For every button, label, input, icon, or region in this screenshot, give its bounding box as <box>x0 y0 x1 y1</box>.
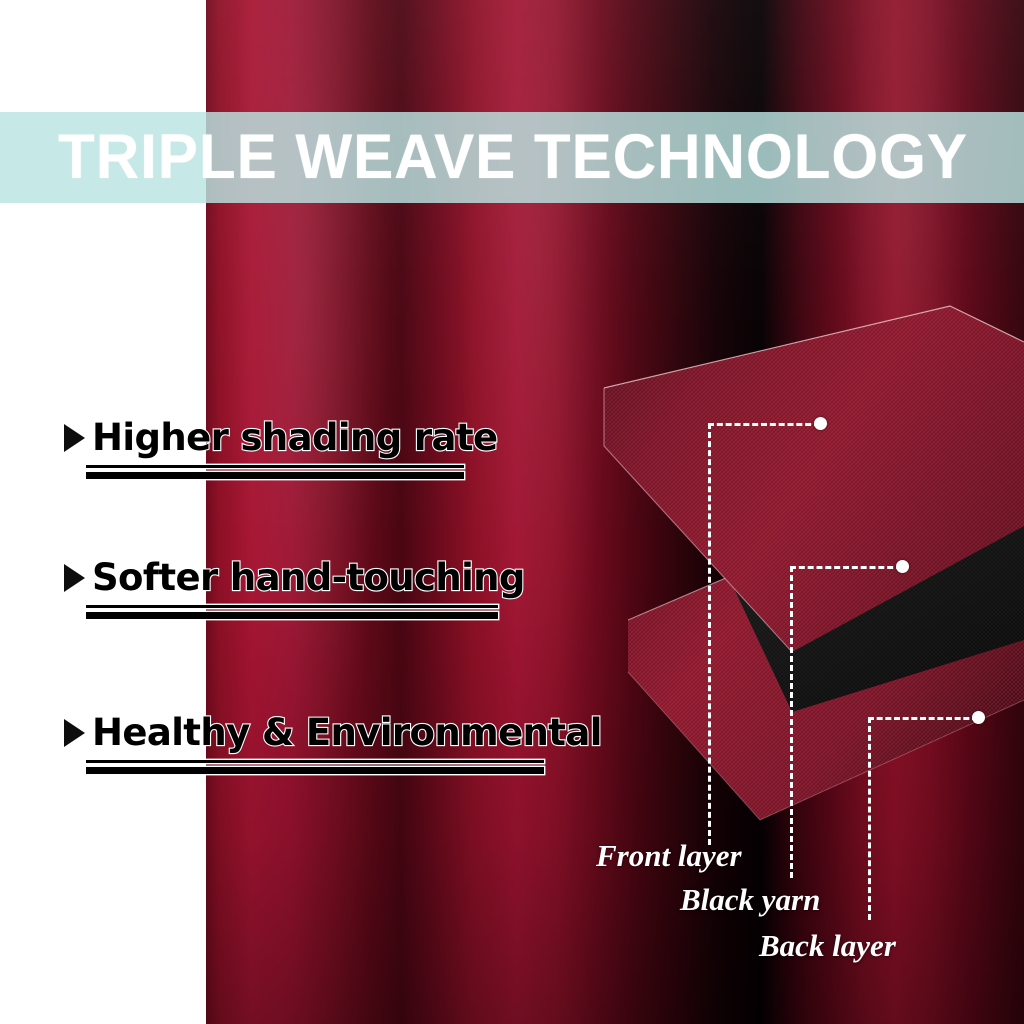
feature-item-softer-hand-touching: Softer hand-touching <box>64 559 525 619</box>
feature-row: Softer hand-touching <box>64 559 525 596</box>
triangle-right-icon <box>64 424 85 452</box>
callout-dot-back-layer <box>972 711 985 724</box>
feature-underline <box>86 465 464 479</box>
feature-label: Higher shading rate <box>92 419 498 456</box>
underline-thick-rule <box>86 767 544 774</box>
callout-dot-black-yarn <box>896 560 909 573</box>
feature-label: Healthy & Environmental <box>92 714 602 751</box>
feature-item-healthy-environmental: Healthy & Environmental <box>64 714 602 774</box>
callout-leader-vertical-back-layer <box>868 717 871 920</box>
feature-row: Healthy & Environmental <box>64 714 602 751</box>
callout-leader-horizontal-back-layer <box>868 717 978 720</box>
banner-title: TRIPLE WEAVE TECHNOLOGY <box>58 112 975 203</box>
callout-leader-vertical-black-yarn <box>790 566 793 878</box>
feature-label: Softer hand-touching <box>92 559 525 596</box>
underline-thin-rule <box>86 465 464 468</box>
triangle-right-icon <box>64 564 85 592</box>
feature-item-higher-shading-rate: Higher shading rate <box>64 419 498 479</box>
feature-row: Higher shading rate <box>64 419 498 456</box>
product-infographic: TRIPLE WEAVE TECHNOLOGY Higher shading r… <box>0 0 1024 1024</box>
underline-thin-rule <box>86 605 498 608</box>
feature-underline <box>86 605 498 619</box>
layer-label-back-layer: Back layer <box>759 928 896 964</box>
callout-dot-front-layer <box>814 417 827 430</box>
layer-label-black-yarn: Black yarn <box>680 882 820 918</box>
feature-underline <box>86 760 544 774</box>
callout-leader-vertical-front-layer <box>708 423 711 845</box>
callout-leader-horizontal-black-yarn <box>790 566 902 569</box>
underline-thick-rule <box>86 472 464 479</box>
triangle-right-icon <box>64 719 85 747</box>
layer-label-front-layer: Front layer <box>596 838 742 874</box>
underline-thick-rule <box>86 612 498 619</box>
callout-leader-horizontal-front-layer <box>708 423 820 426</box>
underline-thin-rule <box>86 760 544 763</box>
